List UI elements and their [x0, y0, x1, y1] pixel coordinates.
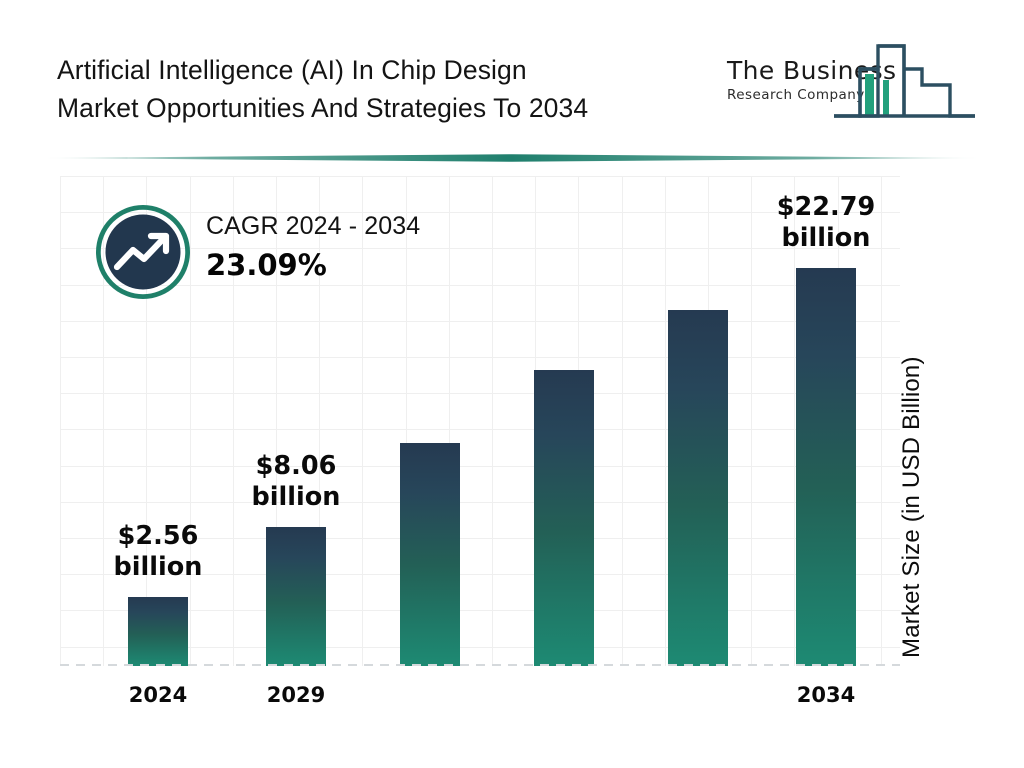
gridline-horizontal: [60, 176, 900, 177]
bar-value-amount: $8.06: [256, 451, 337, 481]
gridline-horizontal: [60, 393, 900, 394]
bar-2030[interactable]: [400, 443, 460, 666]
page-title: Artificial Intelligence (AI) In Chip Des…: [57, 52, 717, 127]
bar-value-label-2024: $2.56billion: [48, 521, 268, 583]
trending-up-icon: [96, 205, 190, 299]
bar-2032[interactable]: [668, 310, 728, 666]
bar-2024[interactable]: [128, 597, 188, 666]
cagr-badge: CAGR 2024 - 2034 23.09%: [96, 205, 516, 305]
bar-value-unit: billion: [716, 223, 936, 254]
gridline-horizontal: [60, 321, 900, 322]
bar-2029[interactable]: [266, 527, 326, 666]
title-line-2: Market Opportunities And Strategies To 2…: [57, 90, 717, 128]
chart-baseline: [60, 664, 900, 666]
bar-2031[interactable]: [534, 370, 594, 666]
bar-chart-logo-mark-icon: [832, 40, 977, 125]
cagr-text: CAGR 2024 - 2034 23.09%: [206, 211, 420, 282]
chart-page: Artificial Intelligence (AI) In Chip Des…: [0, 0, 1024, 768]
cagr-period-label: CAGR 2024 - 2034: [206, 211, 420, 241]
gridline-horizontal: [60, 357, 900, 358]
bar-value-unit: billion: [48, 552, 268, 583]
x-axis-tick-2024: 2024: [78, 683, 238, 707]
bar-value-unit: billion: [186, 482, 406, 513]
y-axis-title: Market Size (in USD Billion): [898, 268, 932, 658]
company-logo: The Business Research Company: [727, 40, 977, 135]
gridline-vertical: [622, 176, 623, 666]
bar-value-label-2034: $22.79billion: [716, 192, 936, 254]
header-divider: [42, 152, 982, 164]
gridline-vertical: [60, 176, 61, 666]
title-line-1: Artificial Intelligence (AI) In Chip Des…: [57, 52, 717, 90]
bar-value-amount: $2.56: [118, 521, 199, 551]
x-axis-tick-2029: 2029: [216, 683, 376, 707]
cagr-value: 23.09%: [206, 250, 420, 282]
bar-value-amount: $22.79: [777, 192, 875, 222]
bar-value-label-2029: $8.06billion: [186, 451, 406, 513]
bar-2034[interactable]: [796, 268, 856, 666]
header: Artificial Intelligence (AI) In Chip Des…: [0, 0, 1024, 150]
gridline-vertical: [665, 176, 666, 666]
x-axis-tick-2034: 2034: [746, 683, 906, 707]
gridline-horizontal: [60, 429, 900, 430]
